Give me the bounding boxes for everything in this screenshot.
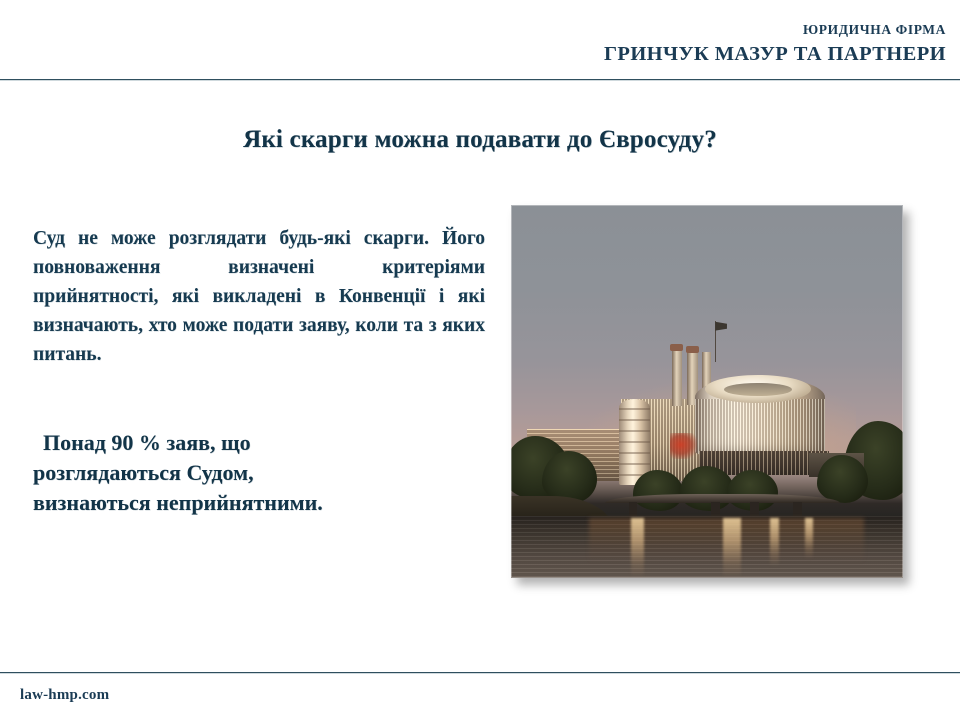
paragraph-main: Суд не може розглядати будь-які скарги. …	[33, 224, 485, 369]
photo-red-structure	[670, 433, 697, 459]
highlight-line-1: Понад 90 % заяв, що	[33, 430, 251, 455]
paragraph-main-text: Суд не може розглядати будь-які скарги. …	[33, 228, 485, 365]
highlight-line-3: визнаються неприйнятними.	[33, 490, 323, 515]
photo-tree-right-2	[817, 455, 868, 503]
header-brand: ЮРИДИЧНА ФІРМА ГРИНЧУК МАЗУР ТА ПАРТНЕРИ	[526, 22, 946, 68]
brand-name: ГРИНЧУК МАЗУР ТА ПАРТНЕРИ	[526, 42, 946, 68]
photo-bridge	[605, 494, 840, 503]
highlight-line-2: розглядаються Судом,	[33, 460, 254, 485]
photo-tower-cap-1	[670, 344, 683, 351]
photo-rotunda-roof	[705, 375, 811, 403]
photo-reflection-1	[631, 518, 644, 578]
photo-tower-cap-2	[686, 346, 699, 353]
photo-reflection-2	[723, 518, 741, 578]
paragraph-highlight: Понад 90 % заяв, що розглядаються Судом,…	[33, 428, 453, 518]
brand-kicker: ЮРИДИЧНА ФІРМА	[526, 22, 946, 39]
photo-tree-mid-2	[680, 466, 735, 511]
photo-tree-mid-1	[633, 470, 684, 511]
page-title: Які скарги можна подавати до Євросуду?	[0, 126, 960, 154]
photo-canvas	[511, 205, 903, 578]
photo-reflection-3	[770, 518, 779, 566]
body-text-column: Суд не може розглядати будь-які скарги. …	[33, 224, 485, 369]
footer-website-url: law-hmp.com	[20, 687, 109, 704]
photo-reflection-4	[805, 518, 813, 559]
photo-tower-1	[672, 347, 682, 407]
photo-echr-building	[511, 205, 903, 578]
header-divider	[0, 79, 960, 81]
footer-divider	[0, 672, 960, 674]
